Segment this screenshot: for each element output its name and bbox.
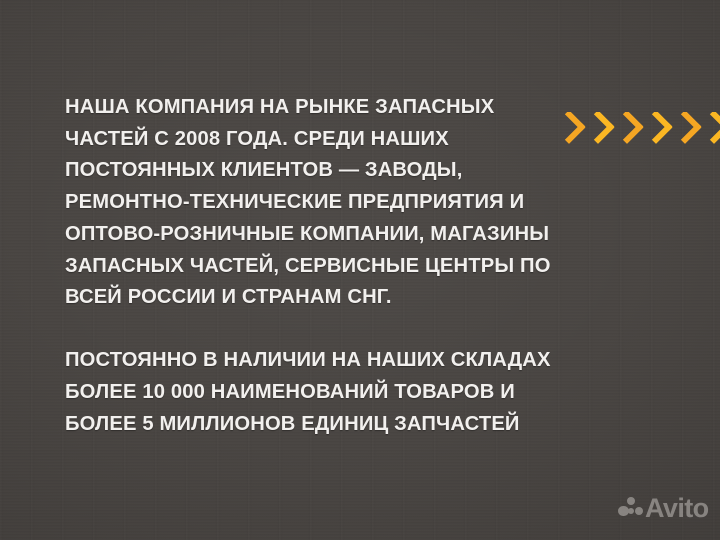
text-line: ЗАПАСНЫХ ЧАСТЕЙ, СЕРВИСНЫЕ ЦЕНТРЫ ПО (65, 251, 605, 283)
logo-dot (618, 506, 629, 517)
text-line: РЕМОНТНО-ТЕХНИЧЕСКИЕ ПРЕДПРИЯТИЯ И (65, 187, 605, 219)
text-line: НАША КОМПАНИЯ НА РЫНКЕ ЗАПАСНЫХ (65, 92, 605, 124)
avito-watermark: Avito (618, 496, 709, 520)
text-line: ОПТОВО-РОЗНИЧНЫЕ КОМПАНИИ, МАГАЗИНЫ (65, 219, 605, 251)
text-line: БОЛЕЕ 5 МИЛЛИОНОВ ЕДИНИЦ ЗАПЧАСТЕЙ (65, 409, 605, 441)
poster-text-block: НАША КОМПАНИЯ НА РЫНКЕ ЗАПАСНЫХ ЧАСТЕЙ С… (65, 92, 605, 441)
logo-dot (635, 507, 644, 516)
avito-wordmark: Avito (645, 496, 709, 520)
poster-canvas: НАША КОМПАНИЯ НА РЫНКЕ ЗАПАСНЫХ ЧАСТЕЙ С… (0, 0, 720, 540)
paragraph-stock-info: ПОСТОЯННО В НАЛИЧИИ НА НАШИХ СКЛАДАХ БОЛ… (65, 345, 605, 440)
logo-dot (628, 508, 634, 514)
text-line: ВСЕЙ РОССИИ И СТРАНАМ СНГ. (65, 282, 605, 314)
logo-dot (627, 497, 635, 505)
text-line: ЧАСТЕЙ С 2008 ГОДА. СРЕДИ НАШИХ (65, 124, 605, 156)
text-line: ПОСТОЯННО В НАЛИЧИИ НА НАШИХ СКЛАДАХ (65, 345, 605, 377)
text-line: БОЛЕЕ 10 000 НАИМЕНОВАНИЙ ТОВАРОВ И (65, 377, 605, 409)
avito-logo-icon (618, 496, 643, 520)
chevron-right-icon (702, 112, 720, 144)
paragraph-company-intro: НАША КОМПАНИЯ НА РЫНКЕ ЗАПАСНЫХ ЧАСТЕЙ С… (65, 92, 605, 314)
text-line: ПОСТОЯННЫХ КЛИЕНТОВ — ЗАВОДЫ, (65, 155, 605, 187)
